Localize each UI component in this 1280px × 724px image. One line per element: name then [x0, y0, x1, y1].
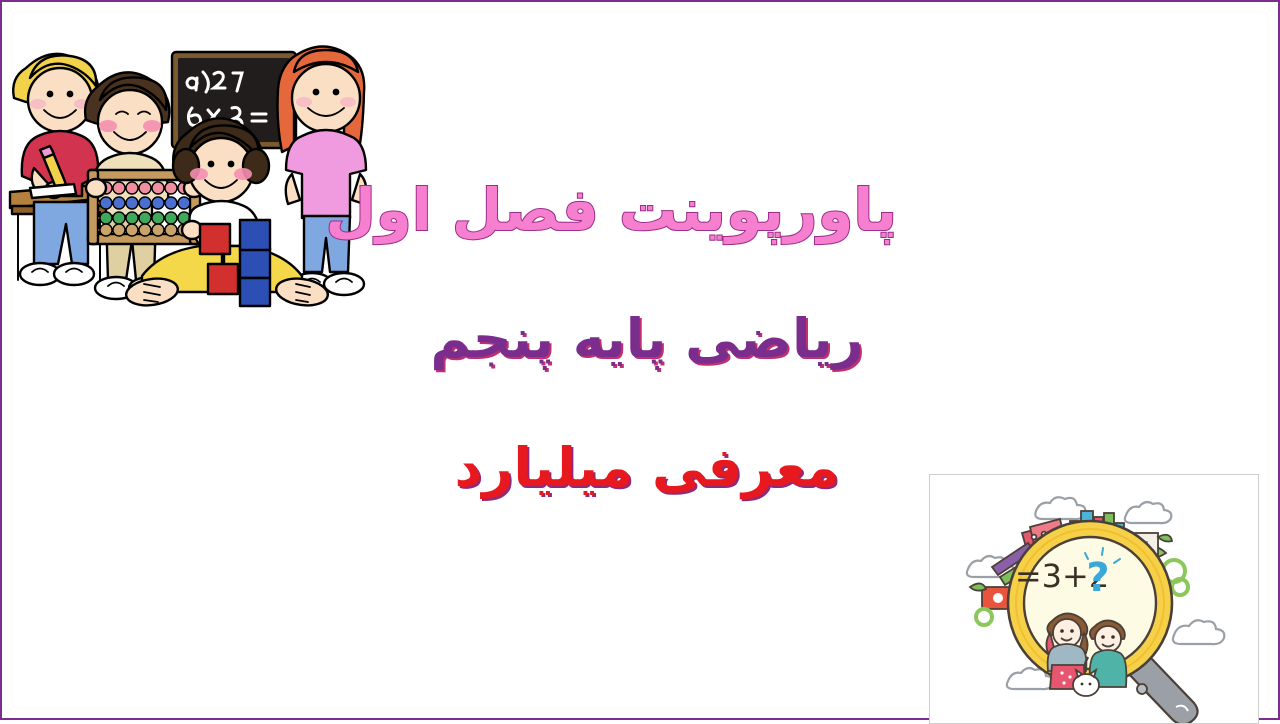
magnifier-lens	[1008, 521, 1172, 685]
title-line-2: ریاضی پایه پنجم	[397, 311, 897, 368]
title-block: پاورپوینت فصل اول ریاضی پایه پنجم معرفی …	[397, 180, 897, 496]
boy-blond-writing	[13, 54, 99, 285]
title-line-3: معرفی میلیارد	[397, 440, 897, 497]
girl-redhead-standing	[278, 46, 367, 295]
title-line-1: پاورپوینت فصل اول	[397, 180, 897, 241]
magnifier-math-clipart: 3+2= ?	[929, 474, 1259, 724]
question-mark-text: ?	[1086, 555, 1109, 601]
classroom-children-clipart: .ol{stroke:#000;stroke-width:2.4;stroke-…	[4, 16, 404, 316]
presentation-slide: .ol{stroke:#000;stroke-width:2.4;stroke-…	[0, 0, 1280, 720]
